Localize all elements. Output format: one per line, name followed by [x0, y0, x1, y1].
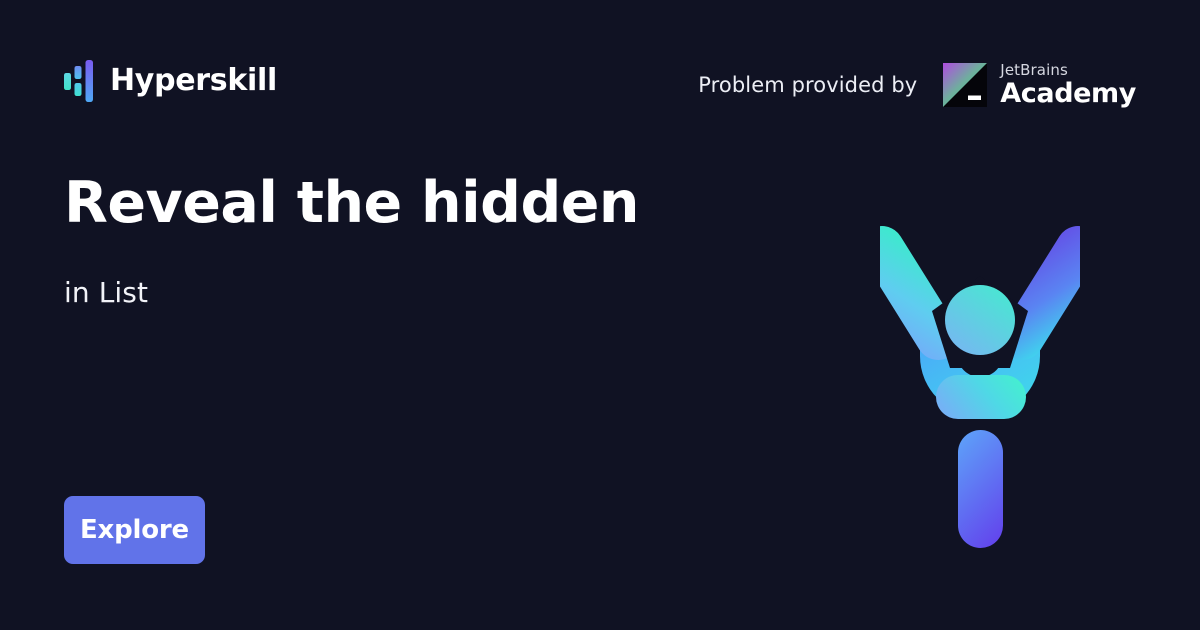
jetbrains-text: JetBrains	[1000, 63, 1136, 79]
provider-lockup: Problem provided by	[698, 63, 1136, 107]
header: Hyperskill Problem provided by	[0, 0, 1200, 150]
torch-inner-circle	[945, 285, 1015, 355]
hyperskill-bars-logo-icon	[64, 60, 94, 102]
page-title: Reveal the hidden	[64, 172, 639, 236]
explore-button[interactable]: Explore	[64, 496, 205, 564]
page-subtitle: in List	[64, 276, 148, 310]
og-card: Hyperskill Problem provided by	[0, 0, 1200, 630]
torch-collar-pill	[936, 375, 1026, 419]
jetbrains-academy-wordmark: JetBrains Academy	[1000, 63, 1136, 107]
hyperskill-brand-name: Hyperskill	[110, 66, 277, 96]
torch-handle-bar	[958, 430, 1003, 548]
academy-text: Academy	[1000, 80, 1136, 108]
hyperskill-brand[interactable]: Hyperskill	[64, 60, 277, 102]
jetbrains-square-logo-icon	[943, 63, 987, 107]
provider-label: Problem provided by	[698, 75, 917, 96]
hyperskill-torch-mark-icon	[880, 178, 1080, 560]
jetbrains-academy-logo[interactable]: JetBrains Academy	[943, 63, 1136, 107]
